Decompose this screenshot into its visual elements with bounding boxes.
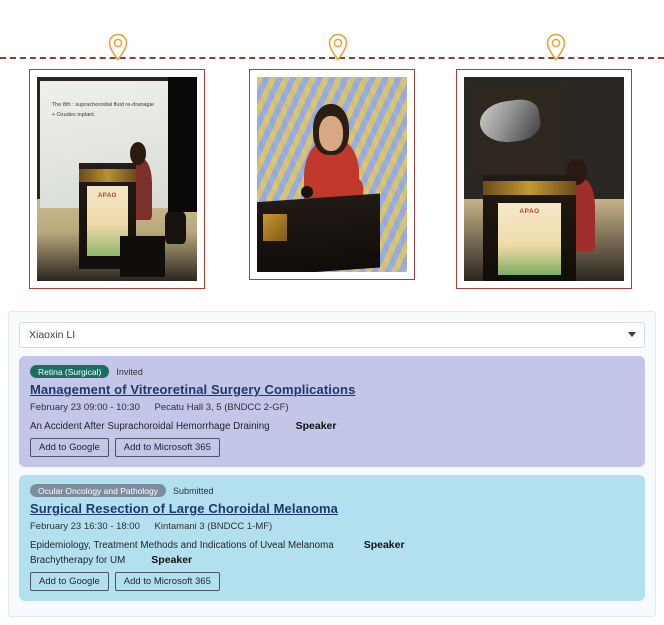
- session-card[interactable]: Ocular Oncology and Pathology Submitted …: [19, 475, 645, 601]
- presentation-role: Speaker: [296, 420, 337, 432]
- presentation-row: An Accident After Suprachoroidal Hemorrh…: [30, 420, 634, 432]
- podium-crest: [263, 214, 287, 241]
- speaker-head: [130, 142, 146, 164]
- chevron-down-icon[interactable]: [628, 332, 636, 337]
- photo-timeline-gallery: The 8th : suprachoroidal fluid re-dranag…: [0, 0, 664, 300]
- conference-photo-2: [257, 77, 407, 272]
- photo-frame: [249, 69, 415, 280]
- calendar-button-row: Add to Google Add to Microsoft 365: [30, 572, 634, 591]
- podium-poster: APAO: [498, 203, 561, 275]
- add-to-microsoft-365-button[interactable]: Add to Microsoft 365: [115, 438, 220, 457]
- session-title-link[interactable]: Management of Vitreoretinal Surgery Comp…: [30, 382, 634, 397]
- session-card-header: Retina (Surgical) Invited: [30, 365, 634, 378]
- photo-frame: APAO: [456, 69, 632, 289]
- add-to-google-button[interactable]: Add to Google: [30, 438, 109, 457]
- podium: APAO: [483, 175, 576, 281]
- session-title-link[interactable]: Surgical Resection of Large Choroidal Me…: [30, 501, 634, 516]
- presentation-role: Speaker: [151, 554, 192, 566]
- session-card[interactable]: Retina (Surgical) Invited Management of …: [19, 356, 645, 467]
- presentation-row: Epidemiology, Treatment Methods and Indi…: [30, 539, 634, 551]
- session-card-header: Ocular Oncology and Pathology Submitted: [30, 484, 634, 497]
- session-meta: February 23 16:30 - 18:00 Kintamani 3 (B…: [30, 521, 634, 532]
- podium-trim: [483, 181, 576, 195]
- presentation-title: Epidemiology, Treatment Methods and Indi…: [30, 540, 334, 551]
- stage-speaker-box: [120, 236, 165, 277]
- medical-image: [478, 97, 543, 146]
- session-location: Pecatu Hall 3, 5 (BNDCC 2-GF): [155, 402, 289, 413]
- speaker-select-value: Xiaoxin LI: [29, 329, 75, 341]
- session-status-badge: Invited: [116, 367, 143, 377]
- photo-dark-panel: [168, 77, 197, 212]
- presentation-row: Brachytherapy for UM Speaker: [30, 554, 634, 566]
- session-card-list: Retina (Surgical) Invited Management of …: [9, 354, 655, 617]
- projection-screen: [469, 83, 565, 173]
- map-pin-icon: [107, 33, 129, 61]
- session-topic-badge: Retina (Surgical): [30, 365, 109, 378]
- presentation-role: Speaker: [364, 539, 405, 551]
- session-topic-badge: Ocular Oncology and Pathology: [30, 484, 166, 497]
- calendar-button-row: Add to Google Add to Microsoft 365: [30, 438, 634, 457]
- map-pin-icon: [545, 33, 567, 61]
- slide-text: The 8th : suprachoroidal fluid re-dranag…: [52, 101, 157, 119]
- speaker-select-row: Xiaoxin LI: [9, 312, 655, 354]
- session-meta: February 23 09:00 - 10:30 Pecatu Hall 3,…: [30, 402, 634, 413]
- speaker-select[interactable]: Xiaoxin LI: [19, 322, 645, 348]
- add-to-google-button[interactable]: Add to Google: [30, 572, 109, 591]
- podium-trim: [79, 169, 137, 182]
- session-datetime: February 23 09:00 - 10:30: [30, 402, 140, 413]
- presentation-title: An Accident After Suprachoroidal Hemorrh…: [30, 421, 270, 432]
- session-datetime: February 23 16:30 - 18:00: [30, 521, 140, 532]
- map-pin-icon: [327, 33, 349, 61]
- conference-photo-3: APAO: [464, 77, 624, 281]
- add-to-microsoft-365-button[interactable]: Add to Microsoft 365: [115, 572, 220, 591]
- conference-photo-1: The 8th : suprachoroidal fluid re-dranag…: [37, 77, 197, 281]
- podium-brand-text: APAO: [498, 208, 561, 215]
- session-status-badge: Submitted: [173, 486, 214, 496]
- session-location: Kintamani 3 (BNDCC 1-MF): [155, 521, 273, 532]
- podium-brand-text: APAO: [87, 193, 128, 199]
- stage-light: [165, 212, 186, 245]
- presentation-title: Brachytherapy for UM: [30, 555, 125, 566]
- photo-frame: The 8th : suprachoroidal fluid re-dranag…: [29, 69, 205, 289]
- microphone-icon: [301, 186, 313, 198]
- speaker-face: [319, 116, 343, 151]
- schedule-panel: Xiaoxin LI Retina (Surgical) Invited Man…: [8, 311, 656, 617]
